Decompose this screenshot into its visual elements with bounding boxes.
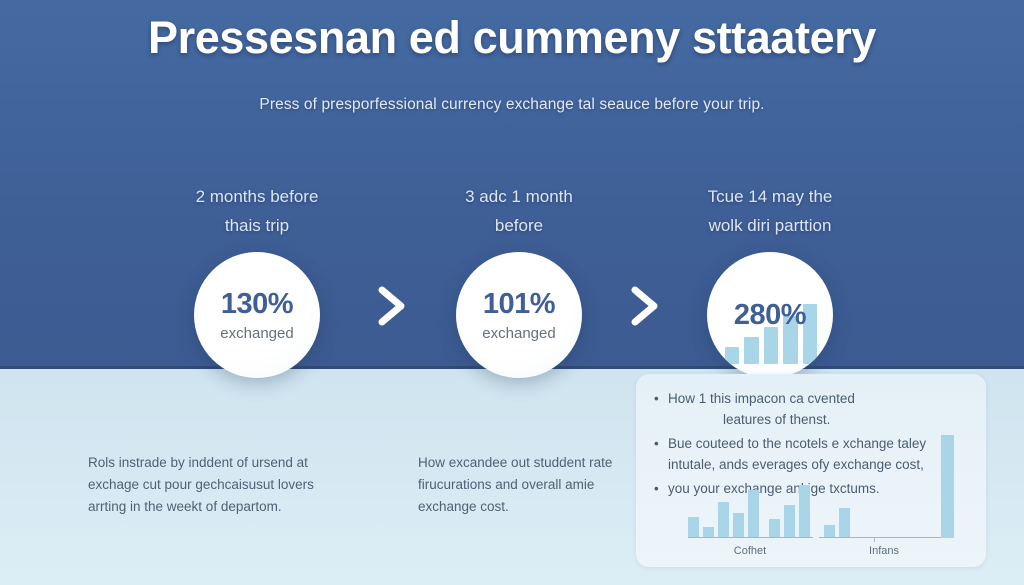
step-1-label-line1: 2 months before [132,182,382,211]
step-1-percent: 130% [221,288,293,321]
chart-bar [799,485,810,537]
bar-group-cofhet [688,485,810,537]
page-subtitle: Press of presporfessional currency excha… [0,96,1024,114]
circle-bar [725,347,739,364]
chart-label-infans: Infans [836,545,932,557]
step-2-circle: 101% exchanged [456,252,582,378]
note-middle: How excandee out studdent rate firucurat… [418,452,633,518]
chevron-right-icon-1 [375,284,409,328]
circle-bar [744,337,758,364]
note-left: Rols instrade by inddent of ursend at ex… [88,452,353,518]
step-2: 3 adc 1 month before 101% exchanged [394,182,644,240]
step-3-label-line2: wolk diri parttion [645,211,895,240]
bullet-text: How 1 this impacon ca cvented [668,391,855,406]
step-3-label-line1: Tcue 14 may the [645,182,895,211]
step-2-label-line1: 3 adc 1 month [394,182,644,211]
chart-bar [718,502,729,537]
chart-bar [703,527,714,537]
circle-bar [764,327,778,364]
page-title: Pressesnan ed cummeny sttaatery [0,12,1024,64]
step-2-label-line2: before [394,211,644,240]
chart-bar [748,490,759,537]
step-1-label-line2: thais trip [132,211,382,240]
chart-axis-tick [874,538,875,542]
chart-bar [733,513,744,537]
chart-bar [769,519,780,537]
chart-axis-left [688,537,813,538]
bar-group-infans [824,485,850,537]
infographic-canvas: Pressesnan ed cummeny sttaatery Press of… [0,0,1024,585]
step-1: 2 months before thais trip 130% exchange… [132,182,382,240]
bullet-continuation: leatures of thenst. [668,409,974,430]
chart-axis-right [819,537,953,538]
step-2-percent: 101% [483,288,555,321]
chart-outlier-bar [941,435,954,538]
step-3-circle: 280% [707,252,833,378]
chart-bar [784,505,795,537]
chart-bar [839,508,850,537]
step-3: Tcue 14 may the wolk diri parttion 280% [645,182,895,240]
chart-bar [824,525,835,537]
step-2-percent-caption: exchanged [482,325,555,342]
bullet-continuation: intutale, ands everages ofy exchange cos… [668,457,924,472]
info-panel: How 1 this impacon ca cvented leatures o… [636,374,986,567]
chevron-right-icon-2 [628,284,662,328]
step-3-percent: 280% [734,299,806,332]
step-1-percent-caption: exchanged [220,325,293,342]
bullet-text: Bue couteed to the ncotels e xchange tal… [668,436,926,451]
list-item: Bue couteed to the ncotels e xchange tal… [652,433,974,475]
panel-bar-chart: Cofhet Infans [688,479,953,557]
list-item: How 1 this impacon ca cvented leatures o… [652,388,974,430]
step-1-circle: 130% exchanged [194,252,320,378]
chart-label-cofhet: Cofhet [702,545,798,557]
chart-bar [688,517,699,537]
